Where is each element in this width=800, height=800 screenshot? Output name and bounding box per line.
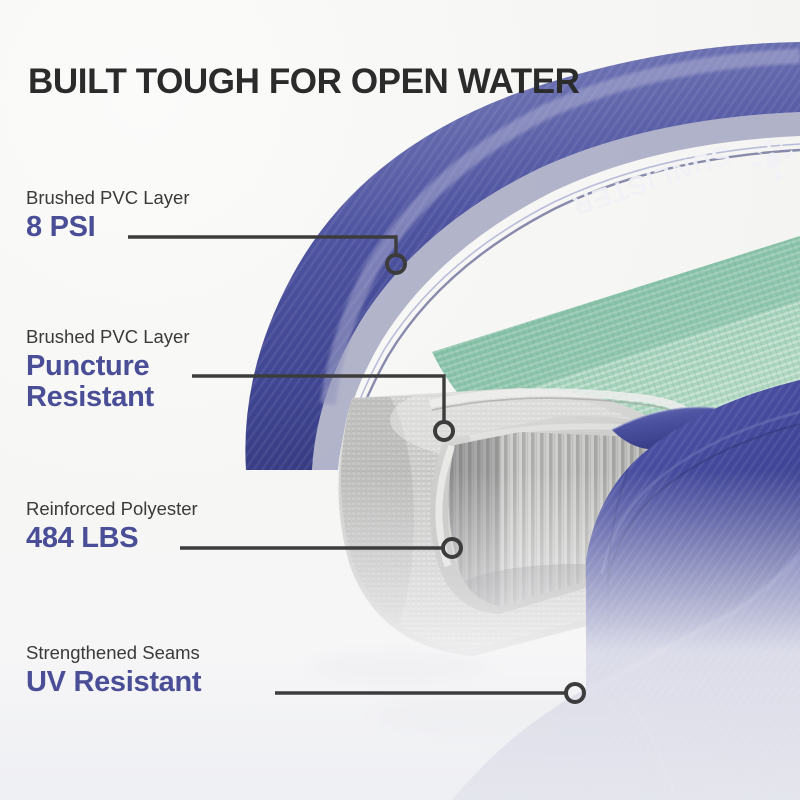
callout-4: Strengthened Seams UV Resistant bbox=[26, 641, 201, 698]
infographic-canvas: SUNLISTER bbox=[0, 0, 800, 800]
callout-3-value: 484 LBS bbox=[26, 523, 198, 554]
callout-3-caption: Reinforced Polyester bbox=[26, 497, 198, 520]
callout-4-value: UV Resistant bbox=[26, 667, 201, 698]
callout-1-value: 8 PSI bbox=[26, 212, 190, 243]
callout-2: Brushed PVC Layer Puncture Resistant bbox=[26, 325, 190, 414]
page-title: BUILT TOUGH FOR OPEN WATER bbox=[28, 62, 580, 102]
callout-2-value: Puncture Resistant bbox=[26, 351, 190, 414]
callout-3: Reinforced Polyester 484 LBS bbox=[26, 497, 198, 554]
callout-1-caption: Brushed PVC Layer bbox=[26, 186, 190, 209]
callout-2-caption: Brushed PVC Layer bbox=[26, 325, 190, 348]
callout-4-caption: Strengthened Seams bbox=[26, 641, 201, 664]
callout-1: Brushed PVC Layer 8 PSI bbox=[26, 186, 190, 243]
